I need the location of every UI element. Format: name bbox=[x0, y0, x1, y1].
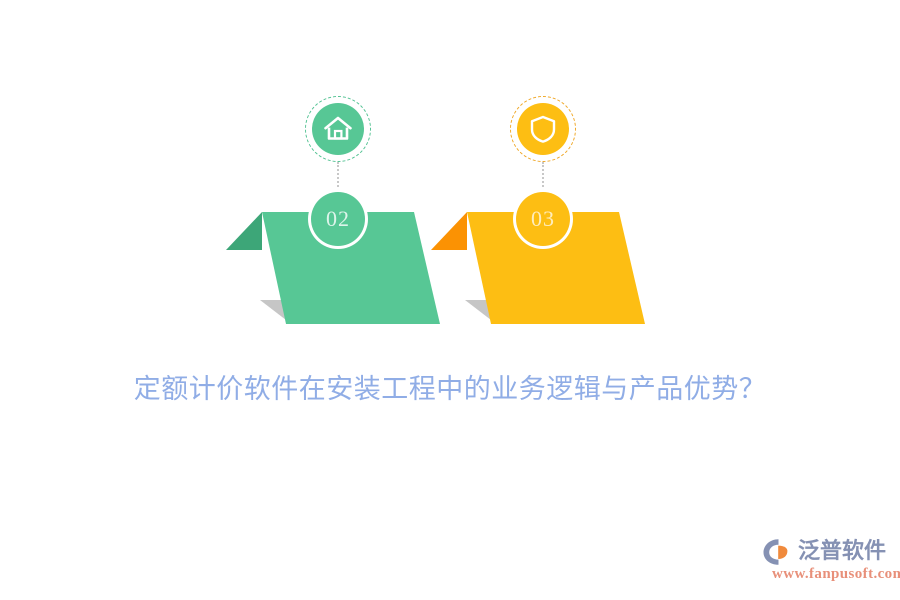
shield-icon bbox=[529, 114, 557, 144]
step-badge-02-label: 02 bbox=[326, 206, 350, 232]
icon-bubble-home[interactable] bbox=[305, 96, 371, 162]
brand-logo[interactable]: 泛普软件 www.fanpusoft.com bbox=[762, 538, 894, 588]
card-fold-green bbox=[226, 212, 262, 250]
step-badge-03[interactable]: 03 bbox=[516, 192, 570, 246]
icon-bubble-shield[interactable] bbox=[510, 96, 576, 162]
screenshot-canvas: 02 03 定额计价软件 bbox=[0, 0, 900, 600]
card-fold-orange bbox=[431, 212, 467, 250]
icon-disc-orange bbox=[517, 103, 569, 155]
infographic-card-02[interactable]: 02 bbox=[224, 88, 454, 338]
fanpu-logo-icon bbox=[762, 538, 796, 566]
brand-logo-row: 泛普软件 bbox=[762, 538, 886, 566]
step-badge-03-label: 03 bbox=[531, 206, 555, 232]
infographic-group: 02 03 bbox=[0, 0, 900, 360]
page-title: 定额计价软件在安装工程中的业务逻辑与产品优势？ bbox=[0, 372, 900, 406]
infographic-card-03[interactable]: 03 bbox=[429, 88, 659, 338]
home-icon bbox=[323, 115, 353, 143]
step-badge-02[interactable]: 02 bbox=[311, 192, 365, 246]
brand-name: 泛普软件 bbox=[798, 539, 886, 565]
icon-disc-green bbox=[312, 103, 364, 155]
brand-url: www.fanpusoft.com bbox=[772, 566, 900, 583]
